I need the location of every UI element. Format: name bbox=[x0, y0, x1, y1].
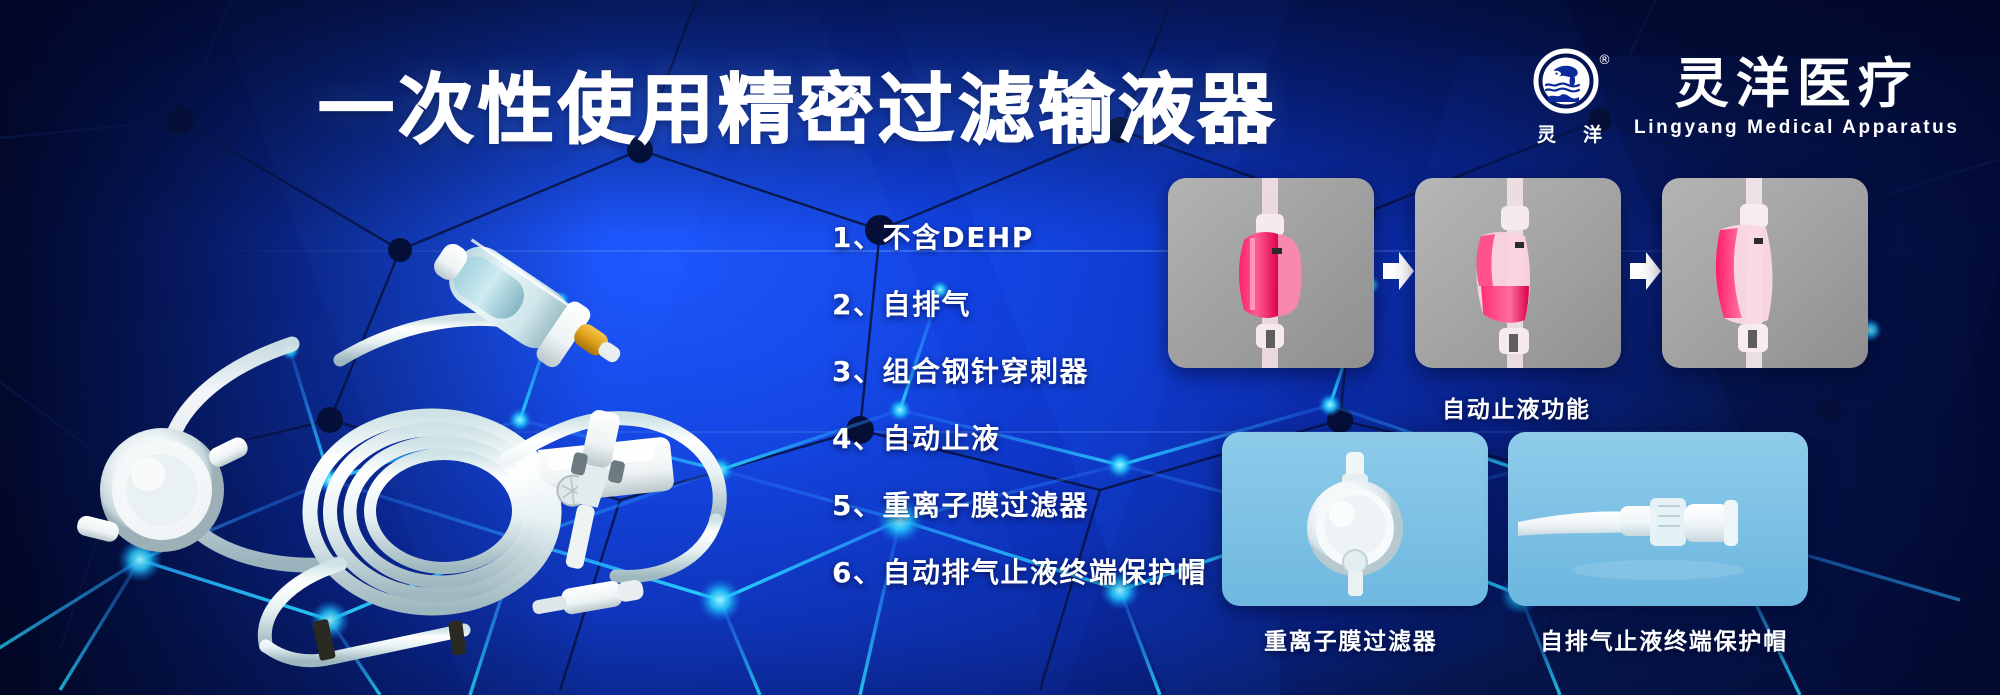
arrow-right-icon bbox=[1381, 250, 1415, 292]
arrow-right-icon-2 bbox=[1628, 250, 1662, 292]
product-banner: 一次性使用精密过滤输液器 bbox=[0, 0, 2000, 695]
lingyang-circle-emblem-icon: ® bbox=[1528, 48, 1612, 118]
panel-stop-step-3[interactable] bbox=[1662, 178, 1868, 368]
logo-wordmark: 灵洋医疗 Lingyang Medical Apparatus bbox=[1634, 56, 1960, 140]
panel-stop-step-1[interactable] bbox=[1168, 178, 1374, 368]
company-name-en: Lingyang Medical Apparatus bbox=[1634, 117, 1960, 139]
panel-ion-membrane-filter[interactable] bbox=[1222, 432, 1488, 606]
company-name-cn: 灵洋医疗 bbox=[1675, 56, 1919, 113]
caption-auto-stop: 自动止液功能 bbox=[1442, 390, 1591, 424]
registered-mark: ® bbox=[1598, 53, 1611, 68]
feature-item-4: 4、自动止液 bbox=[832, 417, 1207, 457]
feature-list: 1、不含DEHP 2、自排气 3、组合钢针穿刺器 4、自动止液 5、重离子膜过滤… bbox=[832, 216, 1207, 591]
feature-item-3: 3、组合钢针穿刺器 bbox=[832, 350, 1207, 390]
caption-ion-membrane-filter: 重离子膜过滤器 bbox=[1264, 622, 1438, 656]
logo-emblem-subtitle: 灵 洋 bbox=[1537, 120, 1603, 147]
brand-logo: ® 灵 洋 灵洋医疗 Lingyang Medical Apparatus bbox=[1528, 48, 1960, 147]
logo-emblem: ® 灵 洋 bbox=[1528, 48, 1612, 147]
caption-terminal-cap: 自排气止液终端保护帽 bbox=[1540, 622, 1788, 656]
emblem-char-right: 洋 bbox=[1583, 120, 1603, 147]
feature-item-1: 1、不含DEHP bbox=[832, 216, 1207, 256]
feature-item-6: 6、自动排气止液终端保护帽 bbox=[832, 551, 1207, 591]
feature-item-5: 5、重离子膜过滤器 bbox=[832, 484, 1207, 524]
hero-product-image bbox=[40, 160, 800, 670]
feature-item-2: 2、自排气 bbox=[832, 283, 1207, 323]
panel-terminal-cap[interactable] bbox=[1508, 432, 1808, 606]
emblem-char-left: 灵 bbox=[1537, 120, 1557, 147]
page-title: 一次性使用精密过滤输液器 bbox=[318, 48, 1278, 158]
panel-stop-step-2[interactable] bbox=[1415, 178, 1621, 368]
